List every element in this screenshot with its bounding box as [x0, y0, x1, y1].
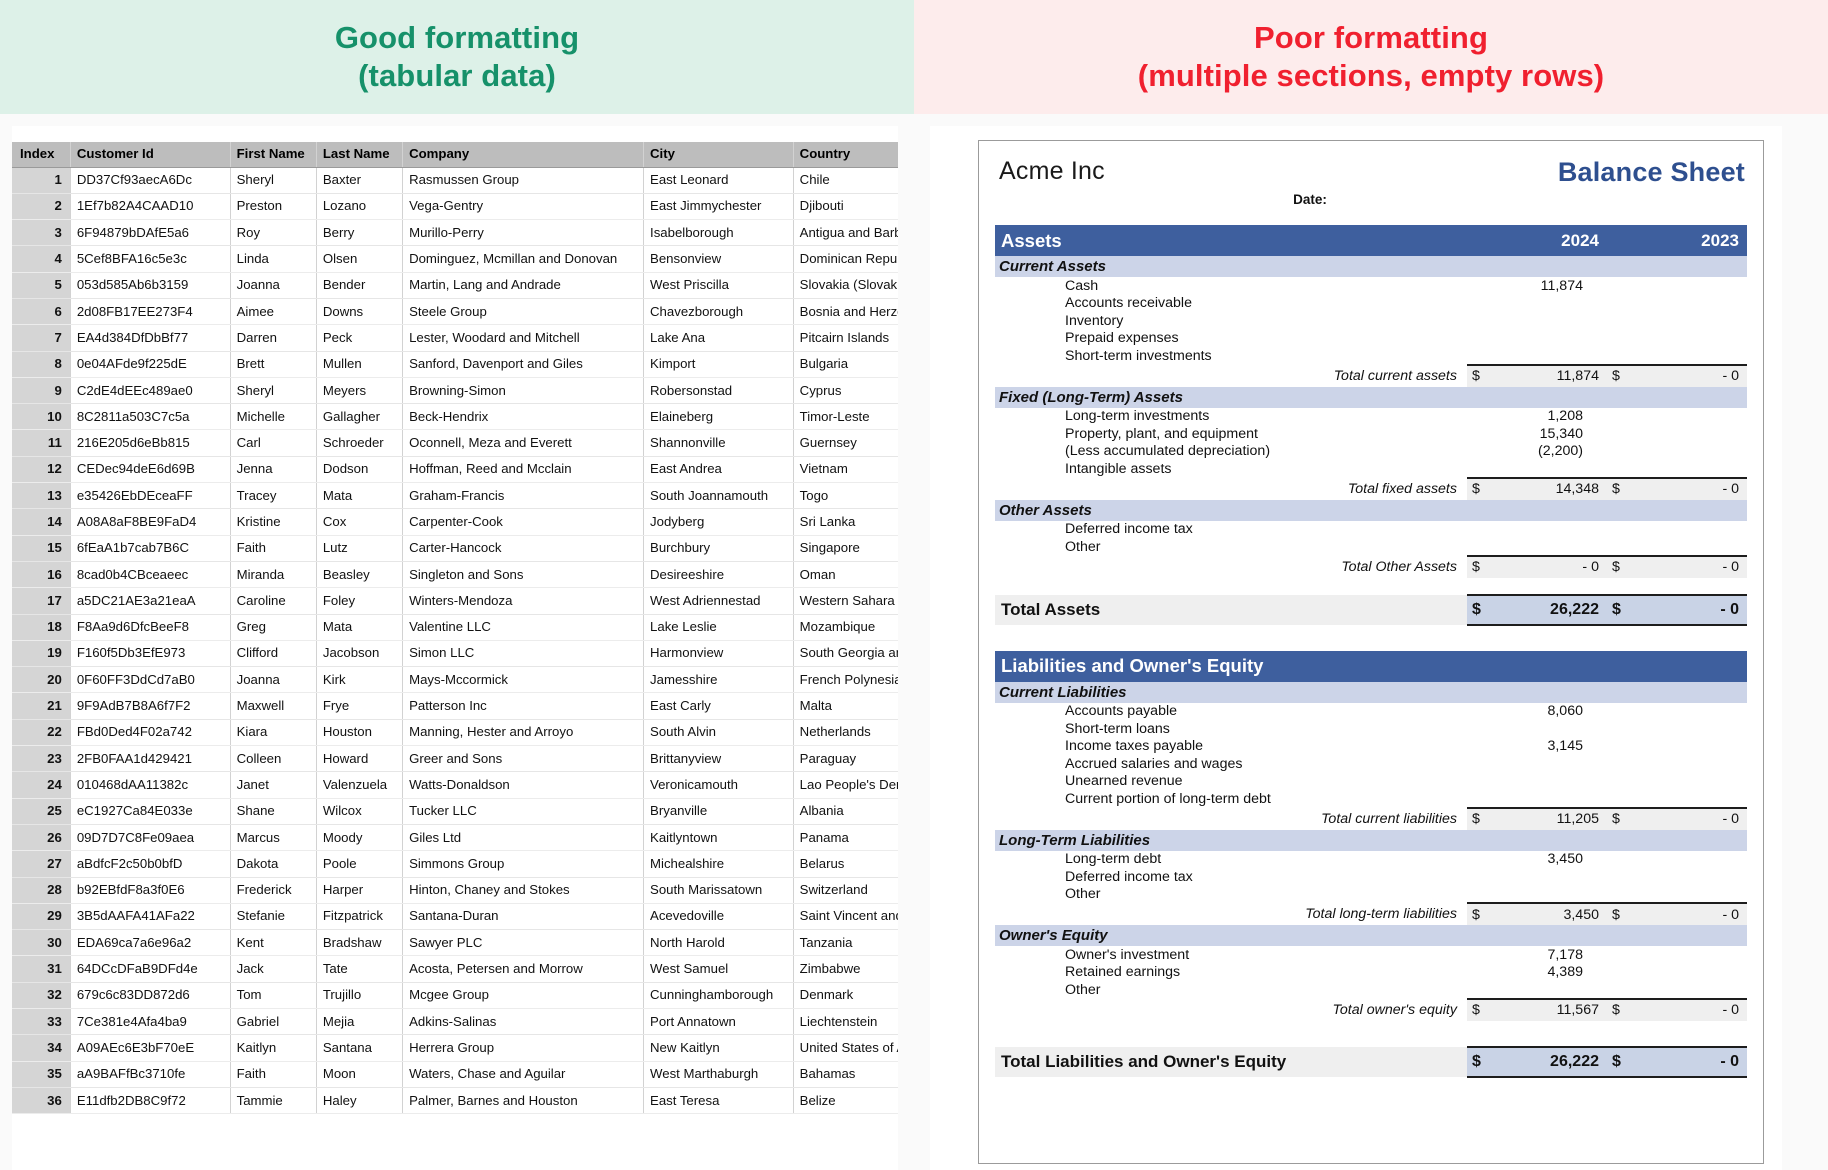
table-cell[interactable]: East Leonard — [644, 167, 794, 193]
table-body[interactable]: 1DD37Cf93aecA6DcSherylBaxterRasmussen Gr… — [12, 167, 898, 1114]
row-index-cell[interactable]: 34 — [12, 1035, 70, 1061]
table-row[interactable]: 293B5dAAFA41AFa22StefanieFitzpatrickSant… — [12, 903, 898, 929]
line-item-value-2023[interactable] — [1629, 738, 1747, 756]
table-cell[interactable]: A09AEc6E3bF70eE — [70, 1035, 230, 1061]
table-cell[interactable]: Tom — [230, 982, 316, 1008]
table-cell[interactable]: Maxwell — [230, 693, 316, 719]
line-item-row[interactable]: Accrued salaries and wages — [995, 755, 1747, 773]
line-item-row[interactable]: Property, plant, and equipment15,340 — [995, 425, 1747, 443]
table-cell[interactable]: Port Annatown — [644, 1009, 794, 1035]
table-cell[interactable]: Joanna — [230, 667, 316, 693]
table-cell[interactable]: Mullen — [316, 351, 402, 377]
row-index-cell[interactable]: 28 — [12, 877, 70, 903]
row-index-cell[interactable]: 18 — [12, 614, 70, 640]
table-cell[interactable]: Carpenter-Cook — [403, 509, 644, 535]
table-cell[interactable]: 216E205d6eBb815 — [70, 430, 230, 456]
table-cell[interactable]: Slovakia (Slovak Republic) — [793, 272, 898, 298]
table-cell[interactable]: Liechtenstein — [793, 1009, 898, 1035]
liabilities-band[interactable]: Liabilities and Owner's Equity — [995, 651, 1747, 682]
table-cell[interactable]: Pitcairn Islands — [793, 325, 898, 351]
table-cell[interactable]: Miranda — [230, 561, 316, 587]
table-cell[interactable]: Colleen — [230, 746, 316, 772]
line-item-value-2024[interactable] — [1489, 868, 1607, 886]
table-cell[interactable]: Cyprus — [793, 377, 898, 403]
line-item-value-2023[interactable] — [1629, 886, 1747, 904]
row-index-cell[interactable]: 27 — [12, 851, 70, 877]
table-cell[interactable]: Browning-Simon — [403, 377, 644, 403]
table-cell[interactable]: West Priscilla — [644, 272, 794, 298]
line-item-row[interactable]: Accounts payable8,060 — [995, 703, 1747, 721]
table-cell[interactable]: East Carly — [644, 693, 794, 719]
table-cell[interactable]: Tracey — [230, 483, 316, 509]
table-cell[interactable]: Gabriel — [230, 1009, 316, 1035]
table-cell[interactable]: Singleton and Sons — [403, 561, 644, 587]
table-cell[interactable]: Herrera Group — [403, 1035, 644, 1061]
table-cell[interactable]: Mays-Mccormick — [403, 667, 644, 693]
table-cell[interactable]: Palmer, Barnes and Houston — [403, 1087, 644, 1113]
row-index-cell[interactable]: 3 — [12, 220, 70, 246]
table-cell[interactable]: Western Sahara — [793, 588, 898, 614]
table-row[interactable]: 36F94879bDAfE5a6RoyBerryMurillo-PerryIsa… — [12, 220, 898, 246]
table-cell[interactable]: Brittanyview — [644, 746, 794, 772]
line-item-value-2024[interactable] — [1489, 538, 1607, 556]
line-item-row[interactable]: Deferred income tax — [995, 868, 1747, 886]
row-index-cell[interactable]: 33 — [12, 1009, 70, 1035]
table-row[interactable]: 13e35426EbDEceaFFTraceyMataGraham-Franci… — [12, 483, 898, 509]
table-cell[interactable]: Clifford — [230, 640, 316, 666]
customer-table[interactable]: IndexCustomer IdFirst NameLast NameCompa… — [12, 142, 898, 1114]
column-header-company[interactable]: Company — [403, 142, 644, 167]
line-item-value-2023[interactable] — [1629, 425, 1747, 443]
section-total-row[interactable]: Total fixed assets$14,348$- 0 — [995, 478, 1747, 500]
table-cell[interactable]: Santana — [316, 1035, 402, 1061]
section-total-row[interactable]: Total current assets$11,874$- 0 — [995, 365, 1747, 387]
table-cell[interactable]: East Teresa — [644, 1087, 794, 1113]
line-item-row[interactable]: Current portion of long-term debt — [995, 790, 1747, 808]
table-cell[interactable]: Togo — [793, 483, 898, 509]
table-cell[interactable]: Acosta, Petersen and Morrow — [403, 956, 644, 982]
table-cell[interactable]: Waters, Chase and Aguilar — [403, 1061, 644, 1087]
line-item-row[interactable]: Other — [995, 981, 1747, 999]
table-cell[interactable]: 1Ef7b82A4CAAD10 — [70, 193, 230, 219]
table-row[interactable]: 25eC1927Ca84E033eShaneWilcoxTucker LLCBr… — [12, 798, 898, 824]
table-row[interactable]: 156fEaA1b7cab7B6CFaithLutzCarter-Hancock… — [12, 535, 898, 561]
table-cell[interactable]: Janet — [230, 772, 316, 798]
table-cell[interactable]: 2d08FB17EE273F4 — [70, 298, 230, 324]
table-row[interactable]: 232FB0FAA1d429421ColleenHowardGreer and … — [12, 746, 898, 772]
table-cell[interactable]: Gallagher — [316, 404, 402, 430]
table-cell[interactable]: 9F9AdB7B8A6f7F2 — [70, 693, 230, 719]
line-item-value-2024[interactable]: 11,874 — [1489, 277, 1607, 295]
table-cell[interactable]: Veronicamouth — [644, 772, 794, 798]
table-cell[interactable]: Dominican Republic — [793, 246, 898, 272]
table-cell[interactable]: E11dfb2DB8C9f72 — [70, 1087, 230, 1113]
table-cell[interactable]: Djibouti — [793, 193, 898, 219]
row-index-cell[interactable]: 14 — [12, 509, 70, 535]
line-item-value-2023[interactable] — [1629, 981, 1747, 999]
table-row[interactable]: 17a5DC21AE3a21eaACarolineFoleyWinters-Me… — [12, 588, 898, 614]
line-item-value-2023[interactable] — [1629, 330, 1747, 348]
table-cell[interactable]: Brett — [230, 351, 316, 377]
table-cell[interactable]: Berry — [316, 220, 402, 246]
table-cell[interactable]: Jack — [230, 956, 316, 982]
line-item-value-2024[interactable] — [1489, 720, 1607, 738]
balance-sheet-body[interactable]: Assets20242023Current AssetsCash11,874Ac… — [995, 225, 1747, 1077]
line-item-value-2024[interactable]: 8,060 — [1489, 703, 1607, 721]
line-item-row[interactable]: Accounts receivable — [995, 295, 1747, 313]
table-cell[interactable]: Burchbury — [644, 535, 794, 561]
table-cell[interactable]: Kirk — [316, 667, 402, 693]
row-index-cell[interactable]: 6 — [12, 298, 70, 324]
table-cell[interactable]: Schroeder — [316, 430, 402, 456]
table-cell[interactable]: Panama — [793, 824, 898, 850]
line-item-value-2023[interactable] — [1629, 312, 1747, 330]
line-item-value-2023[interactable] — [1629, 720, 1747, 738]
table-cell[interactable]: Sheryl — [230, 377, 316, 403]
table-cell[interactable]: Santana-Duran — [403, 903, 644, 929]
total-liabilities-equity-row[interactable]: Total Liabilities and Owner's Equity$26,… — [995, 1047, 1747, 1077]
table-cell[interactable]: A08A8aF8BE9FaD4 — [70, 509, 230, 535]
line-item-value-2024[interactable]: 4,389 — [1489, 964, 1607, 982]
subsection-heading[interactable]: Fixed (Long-Term) Assets — [995, 387, 1747, 408]
line-item-value-2023[interactable] — [1629, 703, 1747, 721]
line-item-value-2024[interactable] — [1489, 790, 1607, 808]
table-cell[interactable]: Rasmussen Group — [403, 167, 644, 193]
table-cell[interactable]: Sri Lanka — [793, 509, 898, 535]
table-cell[interactable]: Dodson — [316, 456, 402, 482]
table-cell[interactable]: e35426EbDEceaFF — [70, 483, 230, 509]
total-assets-row[interactable]: Total Assets$26,222$- 0 — [995, 595, 1747, 625]
table-row[interactable]: 36E11dfb2DB8C9f72TammieHaleyPalmer, Barn… — [12, 1087, 898, 1113]
table-cell[interactable]: Howard — [316, 746, 402, 772]
table-cell[interactable]: Hoffman, Reed and Mcclain — [403, 456, 644, 482]
table-cell[interactable]: CEDec94deE6d69B — [70, 456, 230, 482]
table-cell[interactable]: North Harold — [644, 930, 794, 956]
table-cell[interactable]: Mata — [316, 614, 402, 640]
table-cell[interactable]: Mcgee Group — [403, 982, 644, 1008]
line-item-value-2023[interactable] — [1629, 460, 1747, 478]
column-header-last-name[interactable]: Last Name — [316, 142, 402, 167]
table-cell[interactable]: Baxter — [316, 167, 402, 193]
table-row[interactable]: 34A09AEc6E3bF70eEKaitlynSantanaHerrera G… — [12, 1035, 898, 1061]
row-index-cell[interactable]: 9 — [12, 377, 70, 403]
table-cell[interactable]: Watts-Donaldson — [403, 772, 644, 798]
table-cell[interactable]: Lake Ana — [644, 325, 794, 351]
table-row[interactable]: 21Ef7b82A4CAAD10PrestonLozanoVega-Gentry… — [12, 193, 898, 219]
table-cell[interactable]: Tammie — [230, 1087, 316, 1113]
table-cell[interactable]: Bosnia and Herzegovina — [793, 298, 898, 324]
table-cell[interactable]: Belarus — [793, 851, 898, 877]
table-cell[interactable]: 7Ce381e4Afa4ba9 — [70, 1009, 230, 1035]
table-cell[interactable]: 5Cef8BFA16c5e3c — [70, 246, 230, 272]
table-row[interactable]: 1DD37Cf93aecA6DcSherylBaxterRasmussen Gr… — [12, 167, 898, 193]
table-cell[interactable]: Singapore — [793, 535, 898, 561]
line-item-value-2023[interactable] — [1629, 773, 1747, 791]
table-cell[interactable]: EA4d384DfDbBf77 — [70, 325, 230, 351]
table-cell[interactable]: Poole — [316, 851, 402, 877]
line-item-value-2024[interactable]: (2,200) — [1489, 443, 1607, 461]
table-row[interactable]: 45Cef8BFA16c5e3cLindaOlsenDominguez, Mcm… — [12, 246, 898, 272]
balance-sheet-card[interactable]: Acme Inc Balance Sheet Date: Assets20242… — [930, 126, 1782, 1170]
table-cell[interactable]: Harper — [316, 877, 402, 903]
line-item-row[interactable]: Long-term debt3,450 — [995, 851, 1747, 869]
row-index-cell[interactable]: 26 — [12, 824, 70, 850]
table-cell[interactable]: Oconnell, Meza and Everett — [403, 430, 644, 456]
table-cell[interactable]: Faith — [230, 535, 316, 561]
line-item-value-2023[interactable] — [1629, 964, 1747, 982]
row-index-cell[interactable]: 36 — [12, 1087, 70, 1113]
table-cell[interactable]: Kristine — [230, 509, 316, 535]
table-row[interactable]: 11216E205d6eBb815CarlSchroederOconnell, … — [12, 430, 898, 456]
table-cell[interactable]: Kaitlyntown — [644, 824, 794, 850]
table-cell[interactable]: 010468dAA11382c — [70, 772, 230, 798]
table-cell[interactable]: Cox — [316, 509, 402, 535]
line-item-value-2024[interactable]: 3,450 — [1489, 851, 1607, 869]
table-cell[interactable]: Beck-Hendrix — [403, 404, 644, 430]
table-row[interactable]: 18F8Aa9d6DfcBeeF8GregMataValentine LLCLa… — [12, 614, 898, 640]
line-item-value-2023[interactable] — [1629, 946, 1747, 964]
line-item-row[interactable]: Other — [995, 886, 1747, 904]
table-cell[interactable]: C2dE4dEEc489ae0 — [70, 377, 230, 403]
table-row[interactable]: 27aBdfcF2c50b0bfDDakotaPooleSimmons Grou… — [12, 851, 898, 877]
table-cell[interactable]: Frye — [316, 693, 402, 719]
row-index-cell[interactable]: 19 — [12, 640, 70, 666]
table-cell[interactable]: aA9BAFfBc3710fe — [70, 1061, 230, 1087]
table-row[interactable]: 337Ce381e4Afa4ba9GabrielMejiaAdkins-Sali… — [12, 1009, 898, 1035]
table-cell[interactable]: Chavezborough — [644, 298, 794, 324]
assets-band[interactable]: Assets20242023 — [995, 225, 1747, 256]
line-item-row[interactable]: Cash11,874 — [995, 277, 1747, 295]
table-cell[interactable]: Saint Vincent and the Grenadines — [793, 903, 898, 929]
line-item-value-2024[interactable] — [1489, 330, 1607, 348]
line-item-value-2024[interactable] — [1489, 981, 1607, 999]
table-cell[interactable]: Adkins-Salinas — [403, 1009, 644, 1035]
table-cell[interactable]: South Joannamouth — [644, 483, 794, 509]
table-cell[interactable]: Oman — [793, 561, 898, 587]
table-cell[interactable]: New Kaitlyn — [644, 1035, 794, 1061]
row-index-cell[interactable]: 25 — [12, 798, 70, 824]
table-cell[interactable]: Valenzuela — [316, 772, 402, 798]
table-cell[interactable]: Stefanie — [230, 903, 316, 929]
table-cell[interactable]: Olsen — [316, 246, 402, 272]
table-cell[interactable]: Lester, Woodard and Mitchell — [403, 325, 644, 351]
spreadsheet-card[interactable]: IndexCustomer IdFirst NameLast NameCompa… — [12, 126, 898, 1170]
line-item-row[interactable]: Prepaid expenses — [995, 330, 1747, 348]
table-cell[interactable]: Martin, Lang and Andrade — [403, 272, 644, 298]
table-cell[interactable]: West Marthaburgh — [644, 1061, 794, 1087]
table-cell[interactable]: F160f5Db3EfE973 — [70, 640, 230, 666]
table-row[interactable]: 35aA9BAFfBc3710feFaithMoonWaters, Chase … — [12, 1061, 898, 1087]
table-cell[interactable]: Houston — [316, 719, 402, 745]
table-cell[interactable]: a5DC21AE3a21eaA — [70, 588, 230, 614]
column-header-first-name[interactable]: First Name — [230, 142, 316, 167]
table-cell[interactable]: Manning, Hester and Arroyo — [403, 719, 644, 745]
line-item-value-2023[interactable] — [1629, 521, 1747, 539]
table-cell[interactable]: Kiara — [230, 719, 316, 745]
table-cell[interactable]: Robersonstad — [644, 377, 794, 403]
table-row[interactable]: 19F160f5Db3EfE973CliffordJacobsonSimon L… — [12, 640, 898, 666]
table-cell[interactable]: Sheryl — [230, 167, 316, 193]
table-cell[interactable]: Patterson Inc — [403, 693, 644, 719]
table-cell[interactable]: 2FB0FAA1d429421 — [70, 746, 230, 772]
table-cell[interactable]: Downs — [316, 298, 402, 324]
line-item-row[interactable]: Short-term loans — [995, 720, 1747, 738]
table-cell[interactable]: 3B5dAAFA41AFa22 — [70, 903, 230, 929]
table-cell[interactable]: Foley — [316, 588, 402, 614]
subsection-heading[interactable]: Other Assets — [995, 500, 1747, 521]
line-item-value-2024[interactable]: 15,340 — [1489, 425, 1607, 443]
table-cell[interactable]: Elaineberg — [644, 404, 794, 430]
table-cell[interactable]: Preston — [230, 193, 316, 219]
line-item-row[interactable]: Other — [995, 538, 1747, 556]
line-item-row[interactable]: Short-term investments — [995, 347, 1747, 365]
table-cell[interactable]: Shane — [230, 798, 316, 824]
line-item-value-2024[interactable]: 3,145 — [1489, 738, 1607, 756]
table-row[interactable]: 22FBd0Ded4F02a742KiaraHoustonManning, He… — [12, 719, 898, 745]
section-total-row[interactable]: Total current liabilities$11,205$- 0 — [995, 808, 1747, 830]
table-row[interactable]: 28b92EBfdF8a3f0E6FrederickHarperHinton, … — [12, 877, 898, 903]
table-cell[interactable]: 64DCcDFaB9DFd4e — [70, 956, 230, 982]
row-index-cell[interactable]: 22 — [12, 719, 70, 745]
table-cell[interactable]: EDA69ca7a6e96a2 — [70, 930, 230, 956]
row-index-cell[interactable]: 21 — [12, 693, 70, 719]
table-cell[interactable]: Carl — [230, 430, 316, 456]
table-cell[interactable]: Steele Group — [403, 298, 644, 324]
table-cell[interactable]: 8cad0b4CBceaeec — [70, 561, 230, 587]
line-item-value-2023[interactable] — [1629, 277, 1747, 295]
line-item-value-2023[interactable] — [1629, 408, 1747, 426]
row-index-cell[interactable]: 30 — [12, 930, 70, 956]
table-cell[interactable]: Timor-Leste — [793, 404, 898, 430]
line-item-value-2024[interactable]: 1,208 — [1489, 408, 1607, 426]
table-cell[interactable]: Winters-Mendoza — [403, 588, 644, 614]
table-cell[interactable]: Mata — [316, 483, 402, 509]
table-row[interactable]: 219F9AdB7B8A6f7F2MaxwellFryePatterson In… — [12, 693, 898, 719]
table-cell[interactable]: Graham-Francis — [403, 483, 644, 509]
table-row[interactable]: 30EDA69ca7a6e96a2KentBradshawSawyer PLCN… — [12, 930, 898, 956]
line-item-value-2023[interactable] — [1629, 755, 1747, 773]
table-cell[interactable]: eC1927Ca84E033e — [70, 798, 230, 824]
row-index-cell[interactable]: 32 — [12, 982, 70, 1008]
date-field[interactable]: Date: — [995, 192, 1747, 207]
row-index-cell[interactable]: 13 — [12, 483, 70, 509]
line-item-row[interactable]: Owner's investment7,178 — [995, 946, 1747, 964]
table-cell[interactable]: Valentine LLC — [403, 614, 644, 640]
row-index-cell[interactable]: 15 — [12, 535, 70, 561]
row-index-cell[interactable]: 20 — [12, 667, 70, 693]
table-cell[interactable]: Kent — [230, 930, 316, 956]
table-cell[interactable]: Lutz — [316, 535, 402, 561]
line-item-value-2024[interactable] — [1489, 886, 1607, 904]
table-cell[interactable]: Tate — [316, 956, 402, 982]
table-cell[interactable]: Denmark — [793, 982, 898, 1008]
table-cell[interactable]: Jacobson — [316, 640, 402, 666]
table-cell[interactable]: Mejia — [316, 1009, 402, 1035]
line-item-value-2024[interactable] — [1489, 312, 1607, 330]
table-row[interactable]: 14A08A8aF8BE9FaD4KristineCoxCarpenter-Co… — [12, 509, 898, 535]
line-item-row[interactable]: Intangible assets — [995, 460, 1747, 478]
table-row[interactable]: 12CEDec94deE6d69BJennaDodsonHoffman, Ree… — [12, 456, 898, 482]
table-cell[interactable]: Frederick — [230, 877, 316, 903]
table-cell[interactable]: Bensonview — [644, 246, 794, 272]
table-cell[interactable]: Murillo-Perry — [403, 220, 644, 246]
table-cell[interactable]: Hinton, Chaney and Stokes — [403, 877, 644, 903]
table-cell[interactable]: Bradshaw — [316, 930, 402, 956]
table-cell[interactable]: Harmonview — [644, 640, 794, 666]
table-cell[interactable]: Jenna — [230, 456, 316, 482]
line-item-row[interactable]: Inventory — [995, 312, 1747, 330]
row-index-cell[interactable]: 11 — [12, 430, 70, 456]
table-cell[interactable]: East Jimmychester — [644, 193, 794, 219]
line-item-value-2023[interactable] — [1629, 295, 1747, 313]
table-cell[interactable]: 8C2811a503C7c5a — [70, 404, 230, 430]
table-cell[interactable]: East Andrea — [644, 456, 794, 482]
table-cell[interactable]: 053d585Ab6b3159 — [70, 272, 230, 298]
table-cell[interactable]: Albania — [793, 798, 898, 824]
line-item-value-2024[interactable] — [1489, 347, 1607, 365]
line-item-value-2024[interactable] — [1489, 773, 1607, 791]
table-cell[interactable]: Lake Leslie — [644, 614, 794, 640]
line-item-row[interactable]: Unearned revenue — [995, 773, 1747, 791]
table-cell[interactable]: DD37Cf93aecA6Dc — [70, 167, 230, 193]
table-cell[interactable]: French Polynesia — [793, 667, 898, 693]
table-cell[interactable]: Peck — [316, 325, 402, 351]
table-row[interactable]: 32679c6c83DD872d6TomTrujilloMcgee GroupC… — [12, 982, 898, 1008]
balance-sheet-table[interactable]: Assets20242023Current AssetsCash11,874Ac… — [995, 225, 1747, 1078]
table-cell[interactable]: Isabelborough — [644, 220, 794, 246]
line-item-value-2023[interactable] — [1629, 851, 1747, 869]
line-item-value-2023[interactable] — [1629, 868, 1747, 886]
table-cell[interactable]: Shannonville — [644, 430, 794, 456]
table-cell[interactable]: FBd0Ded4F02a742 — [70, 719, 230, 745]
table-cell[interactable]: Darren — [230, 325, 316, 351]
subsection-heading[interactable]: Current Liabilities — [995, 682, 1747, 703]
table-cell[interactable]: Joanna — [230, 272, 316, 298]
table-cell[interactable]: Carter-Hancock — [403, 535, 644, 561]
table-cell[interactable]: Beasley — [316, 561, 402, 587]
table-cell[interactable]: South Alvin — [644, 719, 794, 745]
row-index-cell[interactable]: 5 — [12, 272, 70, 298]
table-cell[interactable]: Bulgaria — [793, 351, 898, 377]
column-header-customer-id[interactable]: Customer Id — [70, 142, 230, 167]
table-row[interactable]: 108C2811a503C7c5aMichelleGallagherBeck-H… — [12, 404, 898, 430]
line-item-value-2023[interactable] — [1629, 347, 1747, 365]
table-cell[interactable]: Simon LLC — [403, 640, 644, 666]
section-total-row[interactable]: Total owner's equity$11,567$- 0 — [995, 999, 1747, 1021]
section-total-row[interactable]: Total long-term liabilities$3,450$- 0 — [995, 903, 1747, 925]
column-header-country[interactable]: Country — [793, 142, 898, 167]
table-row[interactable]: 80e04AFde9f225dEBrettMullenSanford, Dave… — [12, 351, 898, 377]
table-cell[interactable]: South Marissatown — [644, 877, 794, 903]
table-cell[interactable]: Caroline — [230, 588, 316, 614]
table-cell[interactable]: Bryanville — [644, 798, 794, 824]
row-index-cell[interactable]: 8 — [12, 351, 70, 377]
table-cell[interactable]: F8Aa9d6DfcBeeF8 — [70, 614, 230, 640]
table-cell[interactable]: Vega-Gentry — [403, 193, 644, 219]
table-row[interactable]: 168cad0b4CBceaeecMirandaBeasleySingleton… — [12, 561, 898, 587]
subsection-heading[interactable]: Long-Term Liabilities — [995, 830, 1747, 851]
table-cell[interactable]: Jamesshire — [644, 667, 794, 693]
table-cell[interactable]: 6F94879bDAfE5a6 — [70, 220, 230, 246]
table-cell[interactable]: Giles Ltd — [403, 824, 644, 850]
section-total-row[interactable]: Total Other Assets$- 0$- 0 — [995, 556, 1747, 578]
line-item-row[interactable]: Retained earnings4,389 — [995, 964, 1747, 982]
column-header-city[interactable]: City — [644, 142, 794, 167]
table-cell[interactable]: 0F60FF3DdCd7aB0 — [70, 667, 230, 693]
line-item-value-2024[interactable] — [1489, 521, 1607, 539]
line-item-value-2024[interactable] — [1489, 295, 1607, 313]
table-cell[interactable]: Trujillo — [316, 982, 402, 1008]
